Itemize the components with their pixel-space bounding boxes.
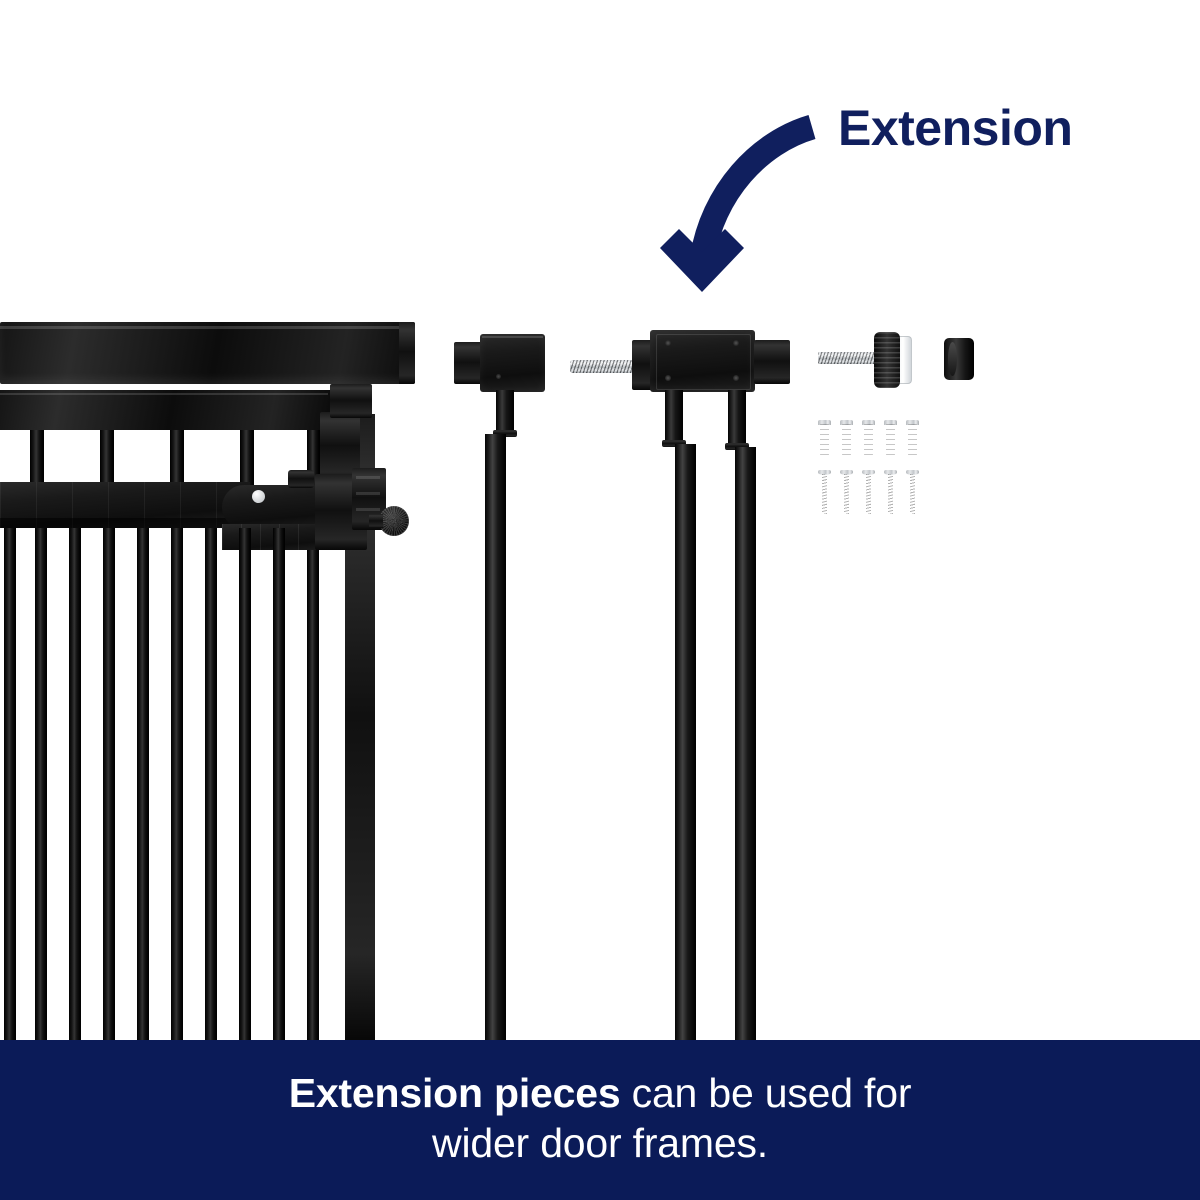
bolt-threaded-rod-threads: [818, 352, 882, 364]
wall-anchor-icon: [840, 420, 853, 458]
gate-latch-pivot-pin: [252, 490, 265, 503]
callout-label: Extension: [838, 103, 1072, 153]
gate-mid-plate-shadow: [0, 518, 250, 528]
gate-frame-top-connector: [330, 384, 372, 418]
screw-shank: [822, 474, 827, 514]
narrow-extension-head-highlight: [482, 336, 543, 338]
caption-line2-text: wider door frames.: [432, 1120, 768, 1166]
baby-safety-gate: [0, 318, 420, 1042]
gate-upper-slat: [30, 430, 44, 490]
thumbscrew-shaft: [369, 514, 383, 528]
wide-extension-lower-post-right: [735, 447, 756, 1042]
wide-extension-upper-post-left: [665, 390, 683, 444]
screw-shank: [844, 474, 849, 514]
wide-extension-threaded-rod-threads: [570, 360, 636, 373]
wall-anchor-icon: [906, 420, 919, 458]
wall-anchor-group: [818, 420, 928, 460]
gate-upper-slat: [170, 430, 184, 490]
wide-extension-lower-post-left: [675, 444, 696, 1042]
wide-extension-upper-post-right: [728, 390, 746, 447]
screw-icon: [884, 470, 897, 514]
narrow-extension-lower-post: [485, 434, 506, 1042]
narrow-extension-piece: [452, 330, 552, 1042]
infographic-canvas: Extension: [0, 0, 1200, 1200]
gate-latch-tab: [288, 470, 314, 488]
wall-anchor-body: [820, 424, 829, 458]
screw-shank: [910, 474, 915, 514]
screw-icon: [906, 470, 919, 514]
gate-top-rail-highlight: [0, 326, 412, 329]
gate-lower-slat: [103, 528, 115, 1042]
rubber-cup-inner-rim: [948, 342, 957, 376]
wall-anchor-icon: [884, 420, 897, 458]
gate-lower-slat: [137, 528, 149, 1042]
caption-text: Extension pieces can be used for wider d…: [289, 1068, 912, 1172]
gate-lower-slat: [69, 528, 81, 1042]
wide-extension-piece: [570, 328, 800, 1042]
caption-banner: Extension pieces can be used for wider d…: [0, 1040, 1200, 1200]
screw-shank: [888, 474, 893, 514]
screw-group: [818, 470, 928, 516]
gate-lower-slat: [171, 528, 183, 1042]
gate-top-rail: [0, 322, 415, 384]
gate-lower-slat: [307, 550, 319, 1042]
narrow-extension-upper-post: [496, 390, 514, 434]
screw-icon: [862, 470, 875, 514]
gate-lower-slat: [205, 528, 217, 1042]
wall-anchor-body: [842, 424, 851, 458]
wide-extension-head-screw: [733, 340, 739, 346]
thumbscrew-knob-knurl: [379, 506, 409, 536]
gate-lower-slat: [35, 528, 47, 1042]
wall-anchor-icon: [818, 420, 831, 458]
wide-extension-head-screw: [665, 340, 671, 346]
wall-anchor-icon: [862, 420, 875, 458]
gate-upper-slat: [240, 430, 254, 490]
hardware-bolt-assembly: [818, 330, 928, 392]
gate-upper-slat: [100, 430, 114, 490]
narrow-extension-head-screw: [496, 374, 501, 379]
gate-inner-rail-highlight: [0, 393, 328, 395]
gate-lower-slat: [273, 528, 285, 1042]
caption-bold-text: Extension pieces: [289, 1070, 621, 1116]
gate-lower-slat: [239, 528, 251, 1042]
screw-shank: [866, 474, 871, 514]
wall-anchor-body: [864, 424, 873, 458]
wall-anchor-body: [886, 424, 895, 458]
wide-extension-head-screw: [665, 375, 671, 381]
gate-top-rail-end-cap: [399, 322, 415, 384]
screw-icon: [840, 470, 853, 514]
wall-anchor-body: [908, 424, 917, 458]
curved-arrow-down-left-icon: [640, 100, 840, 310]
wide-extension-head-screw: [733, 375, 739, 381]
narrow-extension-head-block: [480, 334, 545, 392]
bolt-knob-knurl: [874, 332, 900, 388]
screw-icon: [818, 470, 831, 514]
gate-lower-slat: [4, 528, 16, 1042]
wide-extension-right-tab: [754, 340, 790, 384]
gate-inner-rail: [0, 390, 330, 430]
caption-rest-text: can be used for: [620, 1070, 911, 1116]
